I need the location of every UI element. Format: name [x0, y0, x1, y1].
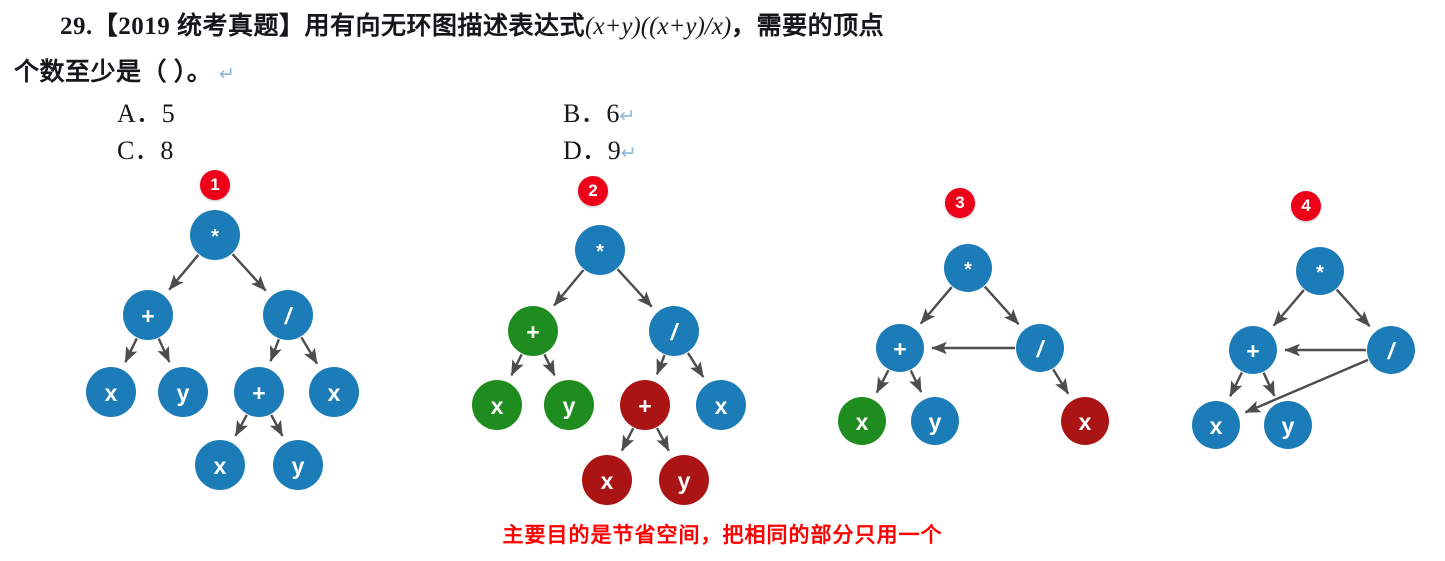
- node-label: *: [596, 241, 604, 263]
- question-line-2-text: 个数至少是（ ）。: [14, 59, 212, 86]
- graph-edge: [169, 255, 198, 290]
- graph-node-star[interactable]: *: [575, 225, 625, 275]
- question-formula: (x+y)((x+y)/x): [585, 13, 731, 40]
- graph-edge: [622, 428, 633, 450]
- question-line-1: 29.【2019 统考真题】用有向无环图描述表达式(x+y)((x+y)/x)，…: [60, 6, 884, 42]
- option-a[interactable]: A．5: [117, 93, 175, 130]
- graph-node-x[interactable]: x: [838, 397, 886, 445]
- node-label: y: [563, 393, 576, 419]
- graph-edge: [877, 370, 889, 392]
- graph-node-star[interactable]: *: [944, 244, 992, 292]
- node-label: y: [678, 468, 691, 494]
- node-label: +: [526, 319, 539, 345]
- graph-node-div[interactable]: /: [649, 306, 699, 356]
- graph-node-plus[interactable]: +: [620, 380, 670, 430]
- question-number: 29.: [60, 13, 93, 40]
- node-label: x: [715, 393, 728, 419]
- option-d-label: D．9: [563, 136, 621, 165]
- node-label: +: [252, 380, 265, 406]
- graph-node-x[interactable]: x: [195, 440, 245, 490]
- graph-edge: [1053, 369, 1068, 393]
- expression-tree-1: *+/xy+xxy: [60, 165, 400, 505]
- node-label: y: [177, 380, 190, 406]
- node-label: +: [638, 393, 651, 419]
- graph-edge: [921, 287, 952, 324]
- node-label: x: [214, 453, 227, 479]
- graph-node-div[interactable]: /: [263, 290, 313, 340]
- graph-node-div[interactable]: /: [1367, 326, 1415, 374]
- node-label: x: [105, 380, 118, 406]
- graph-edge: [1337, 290, 1370, 327]
- option-c-label: C．8: [117, 136, 173, 165]
- graph-edge: [1264, 373, 1275, 396]
- graph-node-y[interactable]: y: [911, 397, 959, 445]
- node-label: x: [856, 409, 869, 435]
- node-label: x: [601, 468, 614, 494]
- question-text-after: ，需要的顶点: [731, 13, 884, 40]
- node-label: +: [893, 336, 906, 362]
- graph-node-plus[interactable]: +: [123, 290, 173, 340]
- graph-node-x[interactable]: x: [1192, 401, 1240, 449]
- graph-edge: [301, 337, 317, 363]
- node-label: *: [211, 226, 219, 248]
- graph-edge: [657, 428, 669, 451]
- graph-node-star[interactable]: *: [1296, 247, 1344, 295]
- node-label: x: [491, 393, 504, 419]
- graph-edge: [233, 254, 266, 290]
- node-label: x: [1210, 413, 1223, 439]
- question-line-2: 个数至少是（ ）。 ↵: [14, 52, 235, 88]
- option-c[interactable]: C．8: [117, 130, 173, 167]
- graph-node-y[interactable]: y: [659, 455, 709, 505]
- pilcrow-icon: ↵: [219, 64, 235, 85]
- expression-tree-2-colored: *+/xy+xxy: [440, 165, 780, 515]
- pilcrow-icon-b: ↵: [619, 106, 635, 127]
- graph-edge: [657, 355, 664, 374]
- graph-node-plus[interactable]: +: [234, 367, 284, 417]
- graph-node-x[interactable]: x: [696, 380, 746, 430]
- graph-edge: [125, 338, 136, 362]
- graph-edge: [511, 354, 521, 375]
- node-label: y: [929, 409, 942, 435]
- node-label: +: [1246, 338, 1259, 364]
- graph-edge: [159, 339, 170, 362]
- graph-edge: [544, 354, 554, 375]
- expression-dag-3: *+/xyx: [810, 180, 1140, 480]
- pilcrow-icon-d: ↵: [621, 143, 637, 164]
- graph-node-x[interactable]: x: [472, 380, 522, 430]
- graph-node-div[interactable]: /: [1016, 324, 1064, 372]
- graph-edge: [985, 287, 1019, 325]
- graph-edge: [271, 415, 282, 436]
- graph-node-plus[interactable]: +: [508, 306, 558, 356]
- graph-node-y[interactable]: y: [1264, 401, 1312, 449]
- graph-edge: [1230, 372, 1242, 396]
- graph-node-y[interactable]: y: [158, 367, 208, 417]
- graph-edge: [618, 269, 652, 306]
- node-label: +: [141, 303, 154, 329]
- caption-note: 主要目的是节省空间，把相同的部分只用一个: [0, 519, 1445, 549]
- graph-node-x[interactable]: x: [309, 367, 359, 417]
- option-b-label: B．6: [563, 99, 619, 128]
- expression-dag-4: *+/xy: [1150, 180, 1445, 480]
- option-d[interactable]: D．9↵: [563, 130, 637, 167]
- graph-edge: [271, 339, 279, 361]
- graph-edge: [554, 270, 583, 306]
- question-text-before: 用有向无环图描述表达式: [305, 13, 586, 40]
- graph-edge: [1274, 290, 1304, 326]
- graph-node-y[interactable]: y: [544, 380, 594, 430]
- graph-edge: [911, 371, 921, 393]
- worksheet-page: 29.【2019 统考真题】用有向无环图描述表达式(x+y)((x+y)/x)，…: [0, 0, 1445, 561]
- graph-node-y[interactable]: y: [273, 440, 323, 490]
- graph-node-x[interactable]: x: [582, 455, 632, 505]
- option-b[interactable]: B．6↵: [563, 93, 635, 130]
- graph-edge: [236, 415, 247, 436]
- node-label: *: [1316, 262, 1324, 284]
- node-label: x: [328, 380, 341, 406]
- node-label: y: [292, 453, 305, 479]
- graph-edge: [688, 353, 703, 377]
- graph-node-plus[interactable]: +: [876, 324, 924, 372]
- graph-node-star[interactable]: *: [190, 210, 240, 260]
- node-label: x: [1079, 409, 1092, 435]
- graph-node-x[interactable]: x: [86, 367, 136, 417]
- graph-node-x[interactable]: x: [1061, 397, 1109, 445]
- option-a-label: A．5: [117, 99, 175, 128]
- node-label: *: [964, 259, 972, 281]
- node-label: y: [1282, 413, 1295, 439]
- question-source-bracket: 【2019 统考真题】: [93, 13, 305, 40]
- graph-node-plus[interactable]: +: [1229, 326, 1277, 374]
